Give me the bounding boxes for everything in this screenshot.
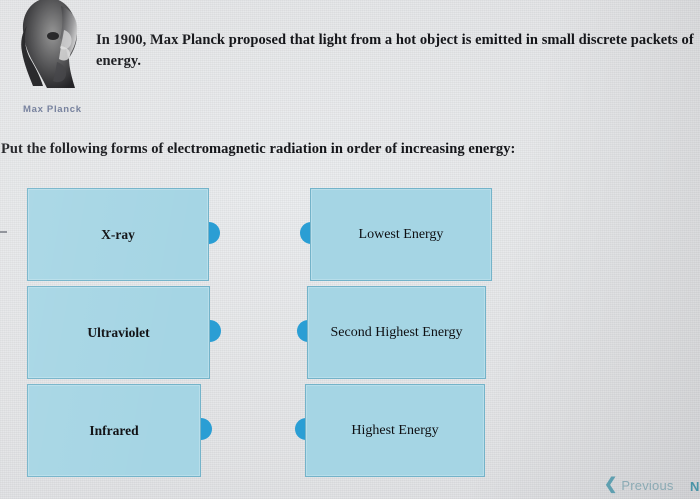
next-button[interactable]: Next: [690, 479, 700, 494]
match-target-label-1: Lowest Energy: [351, 227, 452, 243]
match-target-label-3: Highest Energy: [343, 423, 446, 439]
previous-button[interactable]: ❮ Previous: [604, 477, 674, 493]
match-target-label-2: Second Highest Energy: [323, 325, 471, 341]
match-source-card-1[interactable]: X-ray: [27, 188, 209, 281]
matching-exercise: X-ray Ultraviolet Infrared Lowest Energy…: [0, 0, 700, 499]
connector-knob-left-1[interactable]: [209, 222, 220, 244]
chevron-left-icon: ❮: [604, 477, 617, 493]
connector-knob-left-3[interactable]: [201, 418, 212, 440]
quiz-page: Max Planck In 1900, Max Planck proposed …: [0, 0, 700, 499]
match-source-card-3[interactable]: Infrared: [27, 384, 201, 477]
connector-knob-left-2[interactable]: [210, 320, 221, 342]
match-target-card-1[interactable]: Lowest Energy: [310, 188, 492, 281]
match-target-card-3[interactable]: Highest Energy: [305, 384, 485, 477]
match-source-label-2: Ultraviolet: [79, 325, 157, 341]
match-source-card-2[interactable]: Ultraviolet: [27, 286, 210, 379]
match-source-label-3: Infrared: [81, 423, 146, 439]
previous-label: Previous: [621, 478, 673, 493]
match-source-label-1: X-ray: [93, 227, 143, 243]
match-target-card-2[interactable]: Second Highest Energy: [307, 286, 486, 379]
